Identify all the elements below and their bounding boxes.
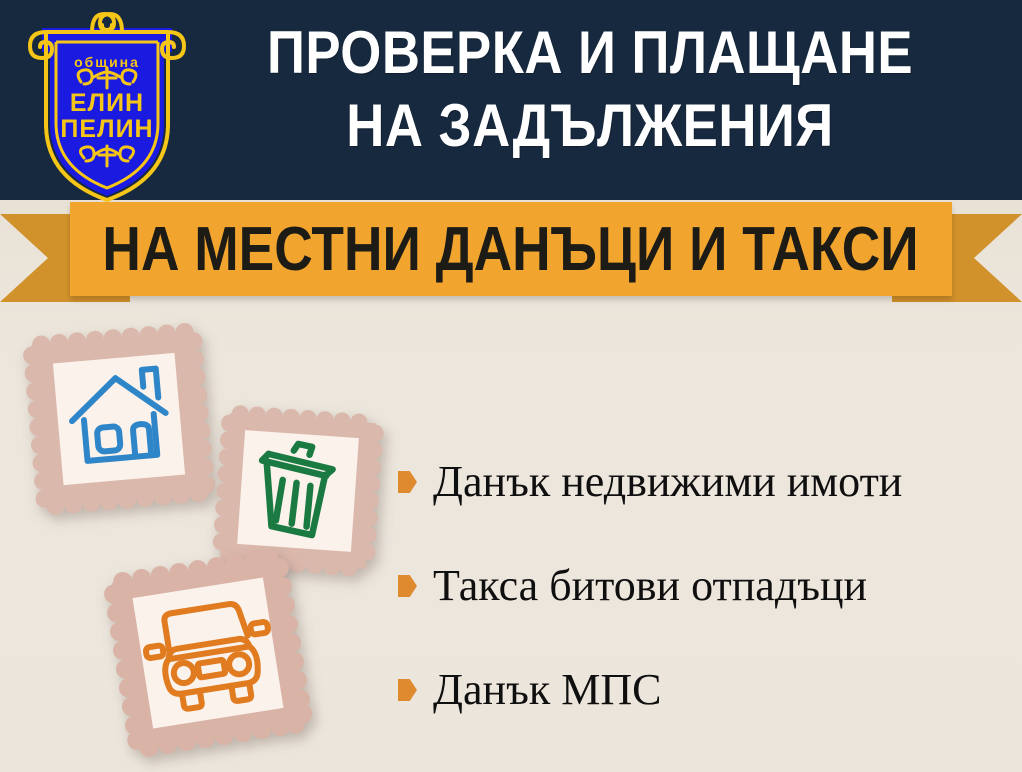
list-item[interactable]: Данък недвижими имоти (398, 430, 1008, 534)
logo-text-line1: ЕЛИН (70, 89, 144, 117)
page-title-line-2: НА ЗАДЪЛЖЕНИЯ (234, 91, 947, 162)
stamp-car (98, 543, 318, 763)
ribbon-label-wrapper: НА МЕСТНИ ДАНЪЦИ И ТАКСИ (70, 202, 952, 296)
bullet-arrow-icon (398, 471, 417, 493)
logo-text-line2: ПЕЛИН (60, 115, 153, 143)
page-title: ПРОВЕРКА И ПЛАЩАНЕ НА ЗАДЪЛЖЕНИЯ (234, 18, 947, 162)
ribbon-label: НА МЕСТНИ ДАНЪЦИ И ТАКСИ (103, 214, 919, 285)
stamp-house (14, 312, 224, 527)
list-item[interactable]: Данък МПС (398, 638, 1008, 742)
list-item-label: Такса битови отпадъци (433, 563, 867, 609)
list-item-label: Данък МПС (433, 667, 661, 713)
coat-of-arms-icon: община ЕЛИН ПЕЛИН (24, 6, 190, 202)
municipality-logo: община ЕЛИН ПЕЛИН (24, 6, 190, 202)
poster-root: община ЕЛИН ПЕЛИН ПРОВЕ (0, 0, 1022, 772)
bullet-arrow-icon (398, 575, 417, 597)
tax-types-list: Данък недвижими имоти Такса битови отпад… (398, 430, 1008, 742)
subtitle-ribbon: НА МЕСТНИ ДАНЪЦИ И ТАКСИ (0, 196, 1022, 306)
bullet-arrow-icon (398, 679, 417, 701)
page-title-line-1: ПРОВЕРКА И ПЛАЩАНЕ (234, 18, 947, 89)
list-item-label: Данък недвижими имоти (433, 459, 902, 505)
list-item[interactable]: Такса битови отпадъци (398, 534, 1008, 638)
